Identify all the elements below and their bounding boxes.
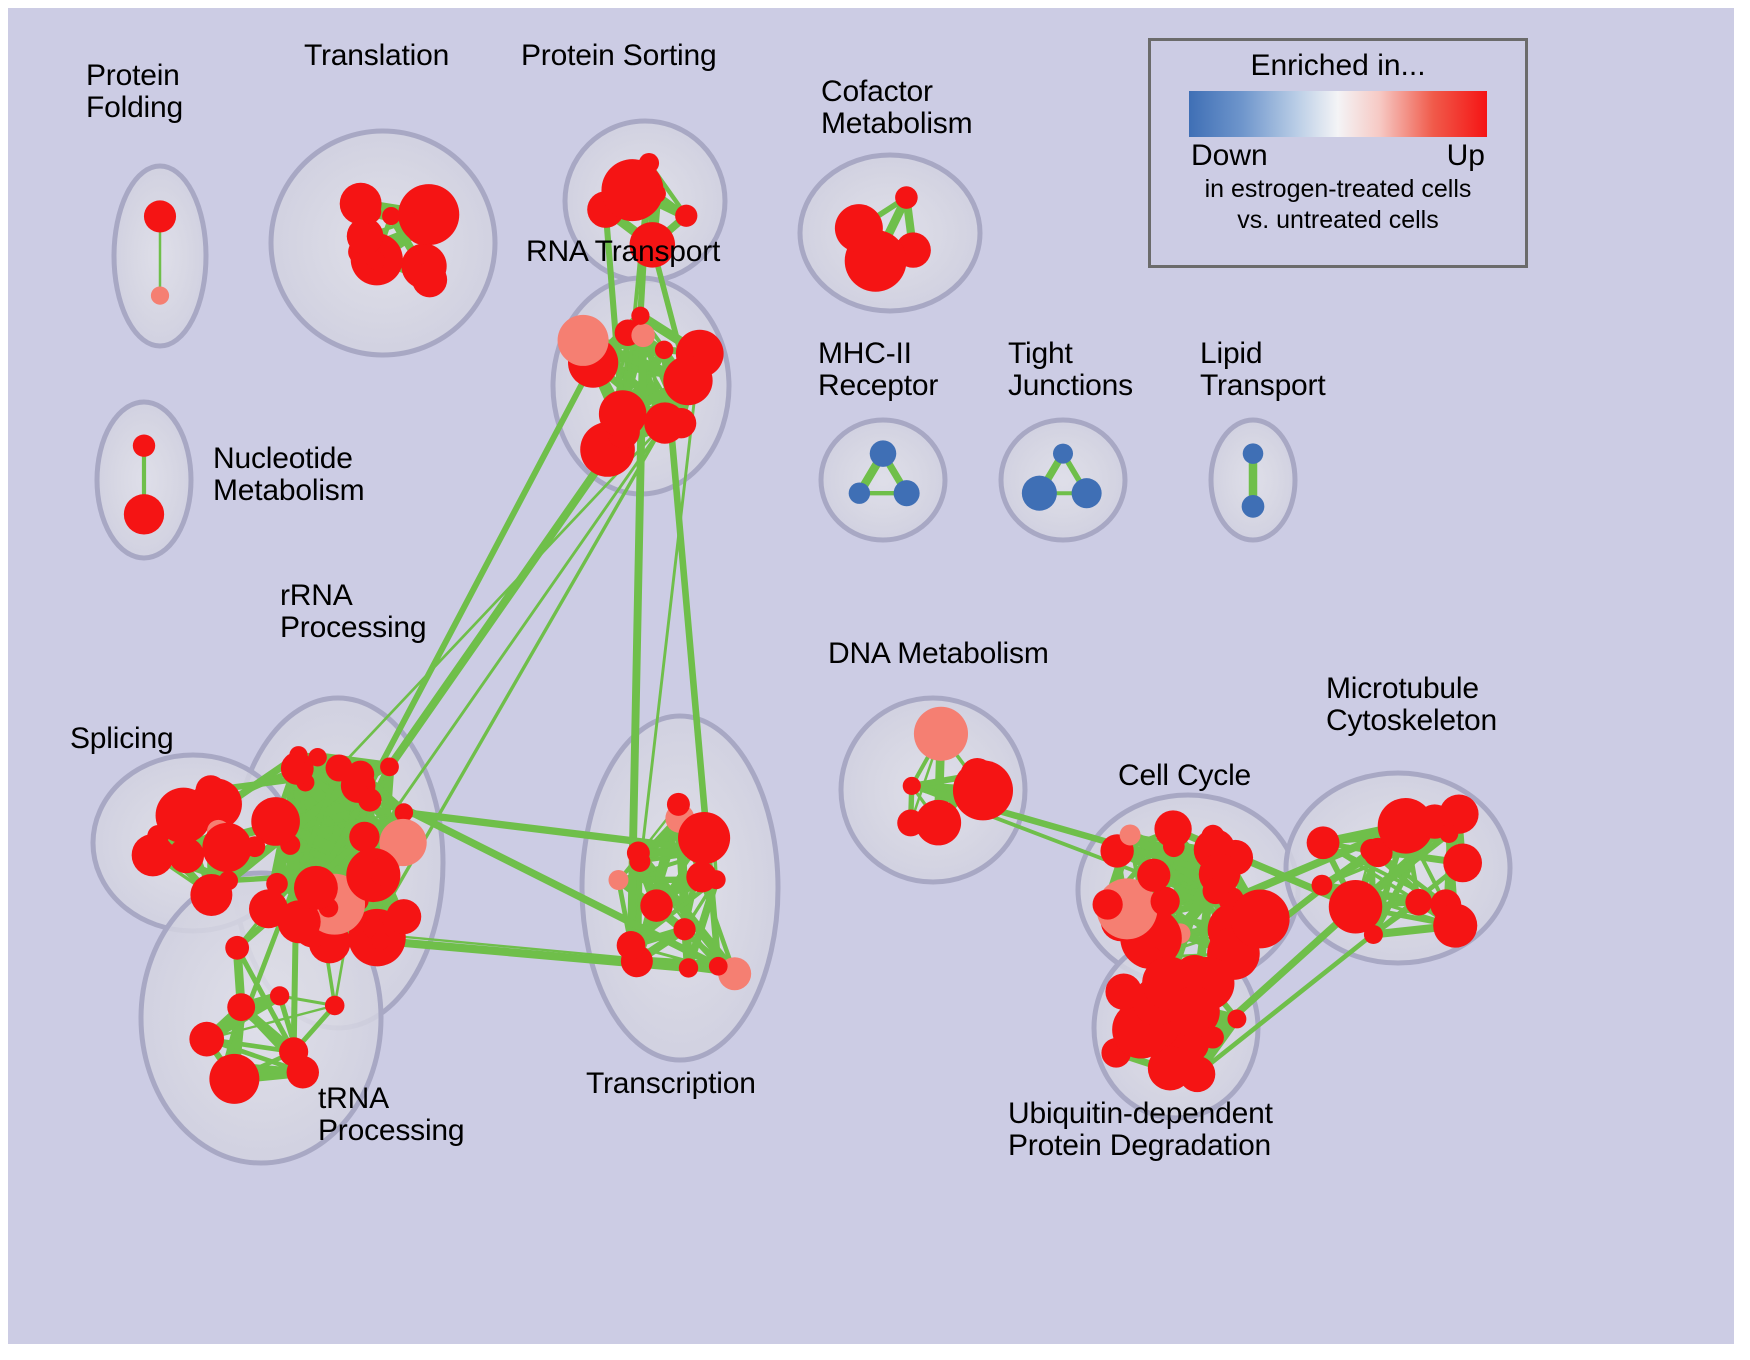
legend-gradient-bar (1189, 91, 1487, 137)
legend-high-label: Up (1447, 139, 1485, 173)
gene-set-node[interactable] (647, 184, 666, 203)
gene-set-node[interactable] (870, 440, 897, 467)
cluster-label-lipid-transport: Lipid Transport (1200, 338, 1325, 402)
gene-set-node[interactable] (190, 874, 232, 916)
gene-set-node[interactable] (897, 810, 924, 837)
gene-set-node[interactable] (151, 286, 169, 304)
gene-set-node[interactable] (631, 307, 649, 325)
gene-set-node[interactable] (706, 842, 724, 860)
cluster-label-rrna-processing: rRNA Processing (280, 580, 426, 644)
gene-set-node[interactable] (382, 207, 400, 225)
gene-set-node[interactable] (894, 480, 920, 506)
gene-set-node[interactable] (1443, 844, 1482, 883)
cluster-label-cell-cycle: Cell Cycle (1118, 760, 1251, 792)
gene-set-node[interactable] (835, 204, 883, 252)
cluster-label-ubiquitin-dependent-protein-degradation: Ubiquitin-dependent Protein Degradation (1008, 1098, 1273, 1162)
gene-set-node[interactable] (599, 390, 647, 438)
gene-set-node[interactable] (1120, 824, 1141, 845)
gene-set-node[interactable] (709, 957, 728, 976)
cluster-label-protein-sorting: Protein Sorting (521, 40, 716, 72)
cluster-label-dna-metabolism: DNA Metabolism (828, 638, 1049, 670)
legend-caption-line2: vs. untreated cells (1151, 206, 1525, 235)
gene-set-node[interactable] (380, 757, 399, 776)
gene-set-node[interactable] (266, 873, 288, 895)
gene-set-node[interactable] (1405, 889, 1432, 916)
gene-set-node[interactable] (644, 402, 685, 443)
gene-set-node[interactable] (639, 153, 659, 173)
gene-set-node[interactable] (325, 996, 345, 1016)
cluster-label-transcription: Transcription (586, 1068, 756, 1100)
gene-set-node[interactable] (270, 986, 289, 1005)
cluster-label-nucleotide-metabolism: Nucleotide Metabolism (213, 443, 364, 507)
gene-set-node[interactable] (1105, 973, 1141, 1009)
gene-set-node[interactable] (675, 205, 697, 227)
gene-set-node[interactable] (673, 918, 695, 940)
gene-set-node[interactable] (686, 862, 717, 893)
gene-set-node[interactable] (678, 812, 730, 864)
legend-title: Enriched in... (1151, 49, 1525, 83)
gene-set-node[interactable] (960, 758, 994, 792)
gene-set-node[interactable] (1137, 859, 1170, 892)
network-canvas: Protein FoldingTranslationProtein Sortin… (8, 8, 1734, 1344)
cluster-ellipse (821, 420, 945, 540)
cluster-ellipse (1001, 420, 1125, 540)
gene-set-node[interactable] (217, 1056, 235, 1074)
gene-set-node[interactable] (1243, 443, 1264, 464)
gene-set-node[interactable] (1312, 875, 1333, 896)
gene-set-node[interactable] (289, 746, 307, 764)
gene-set-node[interactable] (227, 993, 255, 1021)
gene-set-node[interactable] (225, 936, 249, 960)
gene-set-node[interactable] (202, 823, 251, 872)
gene-set-node[interactable] (1022, 476, 1057, 511)
gene-set-node[interactable] (1231, 890, 1290, 949)
gene-set-node[interactable] (617, 931, 646, 960)
gene-set-node[interactable] (1227, 1010, 1246, 1029)
gene-set-node[interactable] (347, 761, 375, 789)
legend-low-label: Down (1191, 139, 1268, 173)
gene-set-node[interactable] (189, 1022, 224, 1057)
gene-set-node[interactable] (369, 857, 398, 886)
gene-set-node[interactable] (627, 841, 650, 864)
gene-set-node[interactable] (663, 356, 712, 405)
gene-set-node[interactable] (849, 482, 870, 503)
legend-panel: Enriched in... Down Up in estrogen-treat… (1148, 38, 1528, 268)
gene-set-node[interactable] (157, 844, 178, 865)
gene-set-node[interactable] (412, 262, 447, 297)
gene-set-node[interactable] (1072, 478, 1102, 508)
gene-set-node[interactable] (1329, 880, 1382, 933)
gene-set-node[interactable] (1053, 444, 1073, 464)
figure-root: Protein FoldingTranslationProtein Sortin… (0, 0, 1750, 1360)
gene-set-node[interactable] (386, 899, 421, 934)
gene-set-node[interactable] (133, 434, 155, 456)
gene-set-node[interactable] (914, 707, 968, 761)
cluster-label-rna-transport: RNA Transport (526, 236, 720, 268)
cluster-label-splicing: Splicing (70, 723, 173, 755)
legend-caption-line1: in estrogen-treated cells (1151, 175, 1525, 204)
cluster-label-cofactor-metabolism: Cofactor Metabolism (821, 76, 972, 140)
gene-set-node[interactable] (903, 777, 921, 795)
gene-set-node[interactable] (558, 315, 609, 366)
gene-set-node[interactable] (1093, 889, 1123, 919)
gene-set-node[interactable] (124, 494, 164, 534)
gene-set-node[interactable] (1203, 878, 1229, 904)
gene-set-node[interactable] (358, 788, 381, 811)
cluster-label-trna-processing: tRNA Processing (318, 1083, 464, 1147)
gene-set-node[interactable] (279, 1037, 308, 1066)
gene-set-node[interactable] (667, 793, 690, 816)
gene-set-node[interactable] (1242, 495, 1265, 518)
gene-set-node[interactable] (895, 186, 918, 209)
gene-set-node[interactable] (1440, 824, 1459, 843)
gene-set-node[interactable] (1433, 904, 1477, 948)
gene-set-node[interactable] (294, 866, 338, 910)
gene-set-node[interactable] (655, 341, 674, 360)
gene-set-node[interactable] (631, 324, 655, 348)
gene-set-node[interactable] (144, 200, 176, 232)
gene-set-node[interactable] (608, 870, 628, 890)
gene-set-node[interactable] (1202, 1026, 1224, 1048)
gene-set-node[interactable] (372, 932, 390, 950)
legend-endpoints: Down Up (1151, 137, 1525, 173)
cluster-label-tight-junctions: Tight Junctions (1008, 338, 1133, 402)
gene-set-node[interactable] (679, 958, 698, 977)
gene-set-node[interactable] (1307, 826, 1340, 859)
cluster-label-microtubule-cytoskeleton: Microtubule Cytoskeleton (1326, 673, 1497, 737)
gene-set-node[interactable] (209, 1054, 259, 1104)
cluster-label-protein-folding: Protein Folding (86, 60, 183, 124)
gene-set-node[interactable] (340, 183, 382, 225)
gene-set-node[interactable] (1163, 835, 1185, 857)
gene-set-node[interactable] (406, 211, 440, 245)
cluster-label-translation: Translation (304, 40, 449, 72)
cluster-label-mhc-ii-receptor: MHC-II Receptor (818, 338, 938, 402)
gene-set-node[interactable] (640, 889, 672, 921)
gene-set-node[interactable] (349, 822, 379, 852)
